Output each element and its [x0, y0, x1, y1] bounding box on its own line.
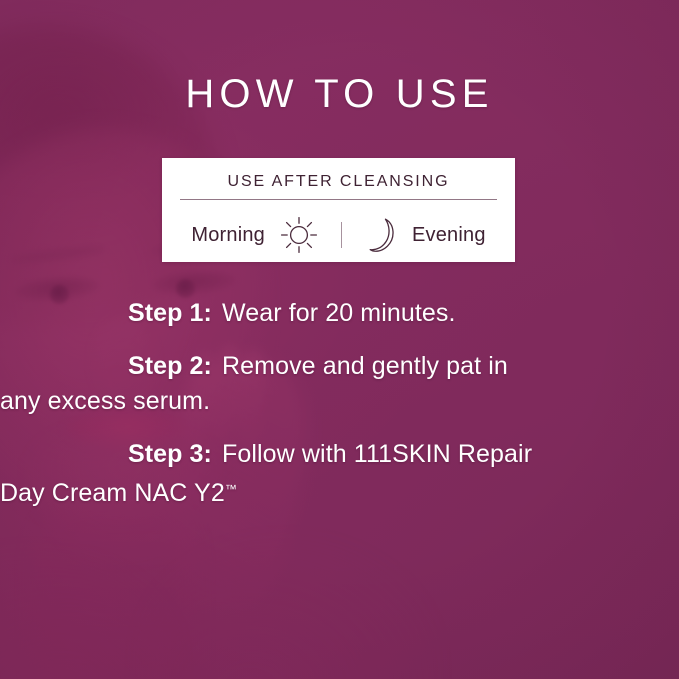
- page-title: HOW TO USE: [0, 74, 679, 114]
- morning-label: Morning: [191, 224, 265, 247]
- step-item-3: Step 3: Follow with 111SKIN Repair Day C…: [0, 437, 679, 511]
- usage-card-divider: [180, 199, 497, 200]
- step-item-1: Step 1: Wear for 20 minutes.: [0, 296, 679, 331]
- sun-icon: [279, 215, 319, 255]
- step-item-2: Step 2: Remove and gently pat in any exc…: [0, 349, 679, 419]
- trademark-symbol: ™: [225, 482, 238, 496]
- poster-content: HOW TO USE USE AFTER CLEANSING Morning: [0, 0, 679, 679]
- time-separator: [341, 222, 342, 248]
- moon-icon: [364, 215, 398, 255]
- steps-list: Step 1: Wear for 20 minutes. Step 2: Rem…: [0, 296, 679, 529]
- step-label: Step 2:: [0, 349, 212, 384]
- usage-card-heading: USE AFTER CLEANSING: [162, 173, 515, 191]
- step-label: Step 1:: [0, 296, 212, 331]
- evening-label: Evening: [412, 224, 486, 247]
- usage-card: USE AFTER CLEANSING Morning: [162, 158, 515, 262]
- step-text: Wear for 20 minutes.: [222, 299, 456, 327]
- step-label: Step 3:: [0, 437, 212, 472]
- usage-time-row: Morning: [162, 208, 515, 262]
- how-to-use-poster: HOW TO USE USE AFTER CLEANSING Morning: [0, 0, 679, 679]
